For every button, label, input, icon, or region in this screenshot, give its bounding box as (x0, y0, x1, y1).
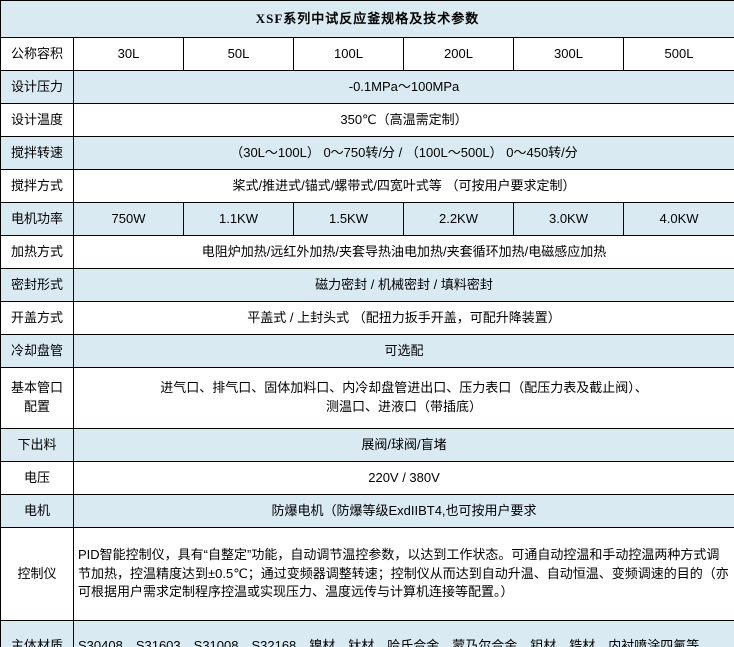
title-row: XSF系列中试反应釜规格及技术参数 (1, 1, 734, 38)
specification-table: XSF系列中试反应釜规格及技术参数 公称容积 30L 50L 100L 200L… (0, 0, 734, 647)
row-value-stirring-speed: （30L～100L） 0～750转/分 / （100L～500L） 0～450转… (74, 137, 734, 170)
table-row-motor: 电机 防爆电机（防爆等级ExdIIBT4,也可按用户要求 (1, 495, 734, 528)
power-cell-5: 3.0KW (514, 203, 624, 236)
row-label-body-material: 主体材质 (1, 621, 74, 647)
volume-cell-6: 500L (624, 38, 734, 71)
row-label-discharge: 下出料 (1, 429, 74, 462)
power-cell-4: 2.2KW (404, 203, 514, 236)
power-cell-1: 750W (74, 203, 184, 236)
power-cell-6: 4.0KW (624, 203, 734, 236)
row-label-design-pressure: 设计压力 (1, 71, 74, 104)
table-row-design-pressure: 设计压力 -0.1MPa～100MPa (1, 71, 734, 104)
table-row-cooling-coil: 冷却盘管 可选配 (1, 335, 734, 368)
row-label-design-temperature: 设计温度 (1, 104, 74, 137)
row-label-port-config-line1: 基本管口 (5, 379, 69, 398)
row-value-sealing-type: 磁力密封 / 机械密封 / 填料密封 (74, 269, 734, 302)
volume-cell-2: 50L (184, 38, 294, 71)
row-label-nominal-volume: 公称容积 (1, 38, 74, 71)
table-row-design-temperature: 设计温度 350℃（高温需定制） (1, 104, 734, 137)
table-row-port-config: 基本管口 配置 进气口、排气口、固体加料口、内冷却盘管进出口、压力表口（配压力表… (1, 368, 734, 429)
row-label-port-config: 基本管口 配置 (1, 368, 74, 429)
table-row-controller: 控制仪 PID智能控制仪，具有“自整定”功能，自动调节温控参数，以达到工作状态。… (1, 528, 734, 621)
table-row-nominal-volume: 公称容积 30L 50L 100L 200L 300L 500L (1, 38, 734, 71)
row-value-lid-opening: 平盖式 / 上封头式 （配扭力扳手开盖，可配升降装置） (74, 302, 734, 335)
table-row-body-material: 主体材质 S30408、S31603、S31008、S32168、镍材、钛材、哈… (1, 621, 734, 647)
table-row-motor-power: 电机功率 750W 1.1KW 1.5KW 2.2KW 3.0KW 4.0KW (1, 203, 734, 236)
row-value-discharge: 展阀/球阀/盲堵 (74, 429, 734, 462)
row-value-controller: PID智能控制仪，具有“自整定”功能，自动调节温控参数，以达到工作状态。可通自动… (74, 528, 734, 621)
row-label-cooling-coil: 冷却盘管 (1, 335, 74, 368)
power-cell-3: 1.5KW (294, 203, 404, 236)
volume-cell-1: 30L (74, 38, 184, 71)
table-row-lid-opening: 开盖方式 平盖式 / 上封头式 （配扭力扳手开盖，可配升降装置） (1, 302, 734, 335)
row-value-design-pressure: -0.1MPa～100MPa (74, 71, 734, 104)
row-label-voltage: 电压 (1, 462, 74, 495)
table-row-sealing-type: 密封形式 磁力密封 / 机械密封 / 填料密封 (1, 269, 734, 302)
port-config-line2: 测温口、进液口（带插底） (78, 398, 730, 417)
page-title: XSF系列中试反应釜规格及技术参数 (1, 1, 734, 38)
row-label-motor: 电机 (1, 495, 74, 528)
row-label-controller: 控制仪 (1, 528, 74, 621)
row-value-voltage: 220V / 380V (74, 462, 734, 495)
volume-cell-4: 200L (404, 38, 514, 71)
row-value-stirring-mode: 桨式/推进式/锚式/螺带式/四宽叶式等 （可按用户要求定制） (74, 170, 734, 203)
row-value-motor: 防爆电机（防爆等级ExdIIBT4,也可按用户要求 (74, 495, 734, 528)
row-label-stirring-speed: 搅拌转速 (1, 137, 74, 170)
row-label-port-config-line2: 配置 (5, 398, 69, 417)
table-row-heating-mode: 加热方式 电阻炉加热/远红外加热/夹套导热油电加热/夹套循环加热/电磁感应加热 (1, 236, 734, 269)
row-value-body-material: S30408、S31603、S31008、S32168、镍材、钛材、哈氏合金、蒙… (74, 621, 734, 647)
row-value-design-temperature: 350℃（高温需定制） (74, 104, 734, 137)
row-label-motor-power: 电机功率 (1, 203, 74, 236)
row-label-sealing-type: 密封形式 (1, 269, 74, 302)
row-label-lid-opening: 开盖方式 (1, 302, 74, 335)
row-value-heating-mode: 电阻炉加热/远红外加热/夹套导热油电加热/夹套循环加热/电磁感应加热 (74, 236, 734, 269)
power-cell-2: 1.1KW (184, 203, 294, 236)
table-row-stirring-speed: 搅拌转速 （30L～100L） 0～750转/分 / （100L～500L） 0… (1, 137, 734, 170)
spec-sheet: XSF系列中试反应釜规格及技术参数 公称容积 30L 50L 100L 200L… (0, 0, 734, 647)
row-label-stirring-mode: 搅拌方式 (1, 170, 74, 203)
row-label-heating-mode: 加热方式 (1, 236, 74, 269)
table-row-stirring-mode: 搅拌方式 桨式/推进式/锚式/螺带式/四宽叶式等 （可按用户要求定制） (1, 170, 734, 203)
table-row-voltage: 电压 220V / 380V (1, 462, 734, 495)
volume-cell-5: 300L (514, 38, 624, 71)
volume-cell-3: 100L (294, 38, 404, 71)
row-value-port-config: 进气口、排气口、固体加料口、内冷却盘管进出口、压力表口（配压力表及截止阀）、 测… (74, 368, 734, 429)
row-value-cooling-coil: 可选配 (74, 335, 734, 368)
table-row-discharge: 下出料 展阀/球阀/盲堵 (1, 429, 734, 462)
port-config-line1: 进气口、排气口、固体加料口、内冷却盘管进出口、压力表口（配压力表及截止阀）、 (78, 379, 730, 398)
